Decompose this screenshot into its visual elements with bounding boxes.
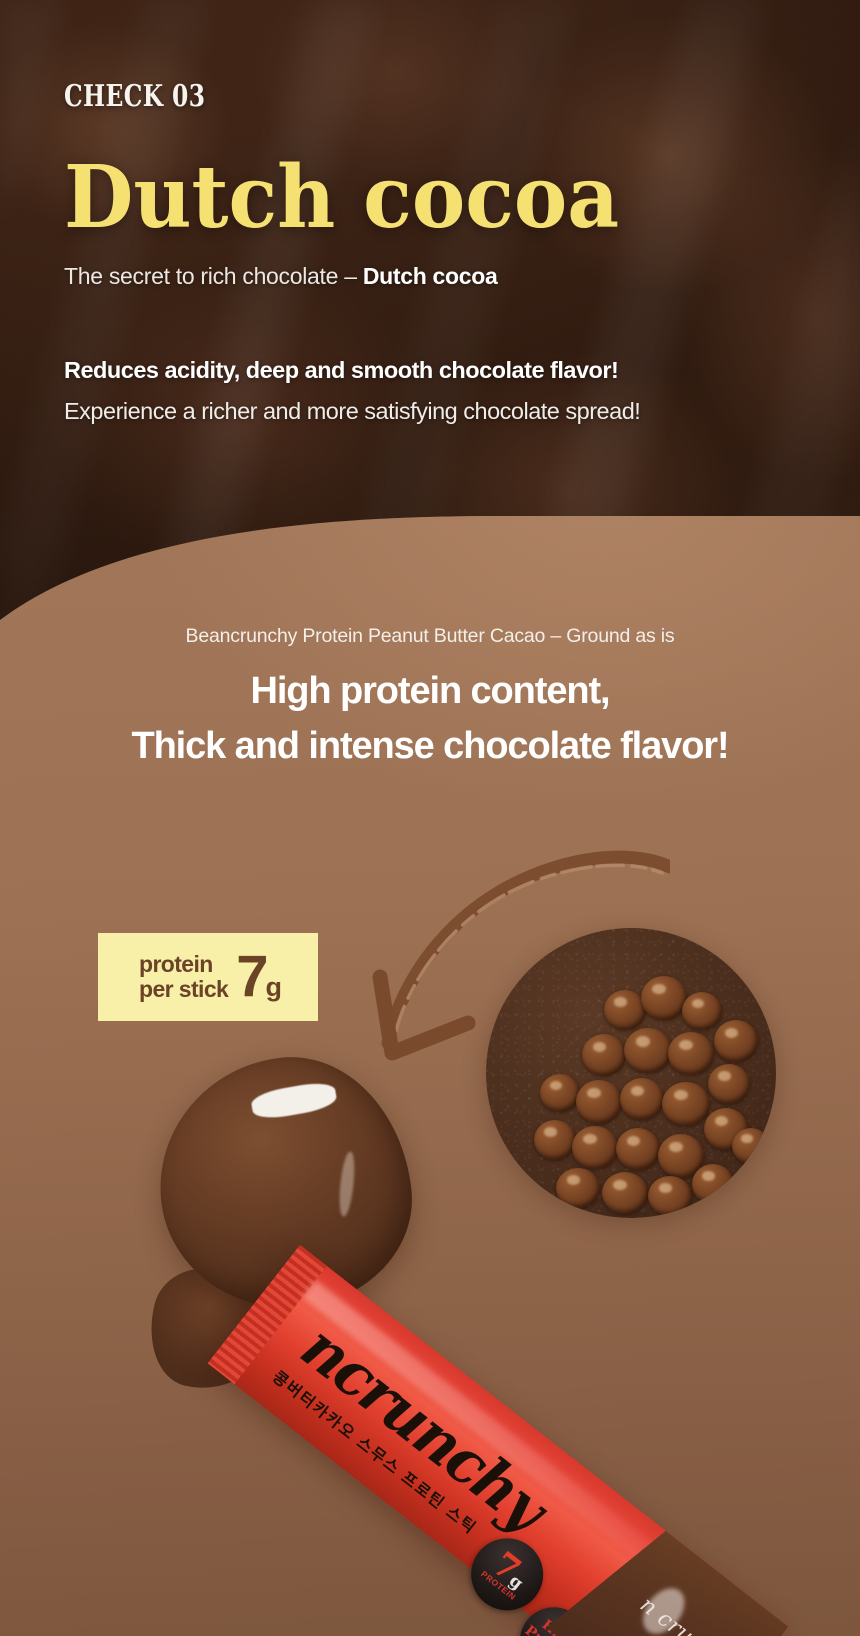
cluster-piece bbox=[662, 1082, 710, 1126]
product-kicker: Beancrunchy Protein Peanut Butter Cacao … bbox=[0, 625, 860, 648]
protein-per-stick-badge: protein per stick 7g bbox=[98, 933, 318, 1021]
protein-badge-amount-group: 7g bbox=[236, 952, 281, 1001]
cluster-piece bbox=[708, 1064, 750, 1104]
cluster-piece bbox=[616, 1128, 660, 1170]
hero-benefit-headline: Reduces acidity, deep and smooth chocola… bbox=[64, 357, 618, 384]
cluster-piece bbox=[534, 1120, 576, 1160]
cluster-piece bbox=[556, 1168, 600, 1208]
cluster-piece bbox=[682, 992, 722, 1030]
product-headline: High protein content, Thick and intense … bbox=[0, 664, 860, 774]
check-step-label: CHECK 03 bbox=[64, 79, 205, 114]
spread-highlight-edge bbox=[337, 1151, 356, 1217]
cluster-piece bbox=[604, 990, 646, 1030]
cluster-piece bbox=[648, 1176, 692, 1216]
page-title: Dutch cocoa bbox=[64, 155, 619, 241]
product-detail-page: CHECK 03 Dutch cocoa The secret to rich … bbox=[0, 0, 860, 1636]
cluster-piece bbox=[692, 1164, 734, 1204]
cluster-piece bbox=[624, 1028, 672, 1073]
protein-badge-amount: 7 bbox=[236, 952, 265, 1001]
product-headline-line1: High protein content, bbox=[251, 670, 610, 712]
cluster-piece bbox=[732, 1128, 770, 1164]
protein-badge-label-line2: per stick bbox=[139, 977, 228, 1002]
hero-benefit-note: Experience a richer and more satisfying … bbox=[64, 398, 640, 425]
product-closeup-photo bbox=[486, 928, 776, 1218]
hero-subtitle-plain: The secret to rich chocolate – bbox=[64, 263, 363, 289]
cluster-piece bbox=[582, 1034, 626, 1076]
cluster-piece bbox=[714, 1020, 758, 1062]
cluster-piece bbox=[668, 1032, 714, 1075]
cluster-piece bbox=[641, 976, 687, 1020]
cluster-piece bbox=[576, 1080, 622, 1124]
cluster-piece bbox=[540, 1074, 580, 1112]
hero-subtitle: The secret to rich chocolate – Dutch coc… bbox=[64, 263, 498, 290]
product-headline-line2: Thick and intense chocolate flavor! bbox=[0, 719, 860, 774]
spread-highlight bbox=[250, 1079, 338, 1121]
cluster-piece bbox=[572, 1126, 618, 1169]
protein-badge-unit: g bbox=[265, 976, 281, 999]
cluster-piece bbox=[602, 1172, 648, 1214]
protein-badge-label-line1: protein bbox=[139, 952, 228, 977]
protein-badge-labels: protein per stick bbox=[139, 952, 228, 1002]
hero-subtitle-bold: Dutch cocoa bbox=[363, 263, 498, 289]
cluster-piece bbox=[620, 1078, 664, 1120]
